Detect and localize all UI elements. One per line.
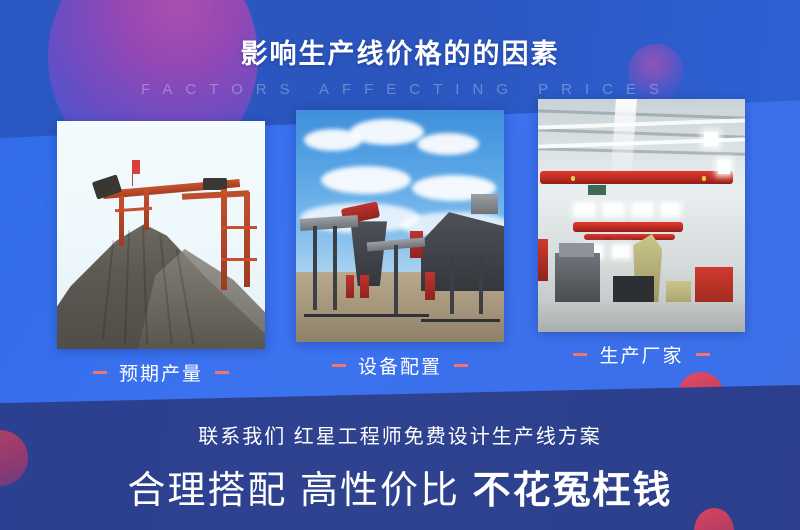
red-motor xyxy=(360,275,368,298)
wall-window xyxy=(718,160,730,174)
support-leg xyxy=(333,226,337,310)
photo-aggregate-stockpile xyxy=(57,121,265,349)
support-tower xyxy=(119,196,124,246)
page-title: 影响生产线价格的的因素 xyxy=(0,32,800,71)
cloud xyxy=(321,166,411,194)
red-motor xyxy=(346,275,354,298)
overhead-crane-lower xyxy=(573,222,683,231)
red-column xyxy=(538,239,548,281)
card-caption: 预期产量 xyxy=(57,359,265,386)
red-motor xyxy=(425,272,435,300)
wall-window xyxy=(575,204,594,216)
wall-window xyxy=(662,204,679,216)
conveyor-hopper xyxy=(203,178,227,190)
control-cabin xyxy=(471,194,498,215)
dash-right-icon xyxy=(454,364,468,367)
caption-text: 生产厂家 xyxy=(599,346,683,367)
promo-banner: 影响生产线价格的的因素 FACTORS AFFECTING PRICES xyxy=(0,0,800,530)
red-flag xyxy=(132,160,140,174)
card-caption: 生产厂家 xyxy=(538,341,745,368)
caption-text: 设备配置 xyxy=(358,357,442,378)
crane-trolley xyxy=(588,185,607,194)
dash-right-icon xyxy=(215,371,229,374)
footer-slogan-strong: 不花冤枉钱 xyxy=(473,470,673,512)
wall-window xyxy=(704,132,718,146)
banner-header: 影响生产线价格的的因素 FACTORS AFFECTING PRICES xyxy=(0,0,800,98)
dash-left-icon xyxy=(93,371,107,374)
machine-top xyxy=(559,243,594,257)
dash-left-icon xyxy=(332,364,346,367)
support-leg xyxy=(313,226,317,310)
crane-marking xyxy=(702,176,706,181)
photo-crushing-plant xyxy=(296,110,504,342)
cloud xyxy=(417,133,479,155)
card-manufacturer[interactable]: 生产厂家 xyxy=(538,99,745,332)
factory-floor xyxy=(538,302,745,332)
card-equipment-config[interactable]: 设备配置 xyxy=(296,110,504,342)
wall-window xyxy=(613,246,630,258)
footer-slogan-light: 合理搭配 高性价比 xyxy=(127,470,460,512)
card-caption: 设备配置 xyxy=(296,352,504,379)
guard-rail xyxy=(421,319,500,322)
footer-slogan: 合理搭配 高性价比 不花冤枉钱 xyxy=(0,459,800,514)
crane-girder xyxy=(584,234,675,240)
support-leg xyxy=(450,254,454,314)
wall-window xyxy=(604,204,623,216)
wall-window xyxy=(633,204,652,216)
support-leg xyxy=(394,245,398,315)
support-leg xyxy=(479,254,483,314)
card-expected-output[interactable]: 预期产量 xyxy=(57,121,265,349)
tower-brace xyxy=(221,258,256,261)
support-tower xyxy=(244,192,250,288)
footer-contact-line: 联系我们 红星工程师免费设计生产线方案 xyxy=(0,420,800,449)
photo-factory-interior xyxy=(538,99,745,332)
support-tower xyxy=(221,189,227,289)
page-subtitle: FACTORS AFFECTING PRICES xyxy=(0,81,800,98)
tower-brace xyxy=(221,226,256,229)
dash-right-icon xyxy=(696,353,710,356)
dash-left-icon xyxy=(573,353,587,356)
guard-rail xyxy=(304,314,429,317)
crane-marking xyxy=(571,176,575,181)
caption-text: 预期产量 xyxy=(119,364,203,385)
